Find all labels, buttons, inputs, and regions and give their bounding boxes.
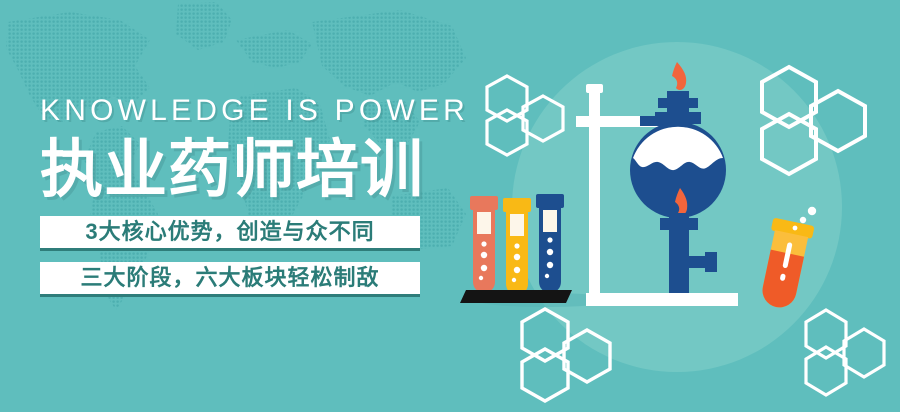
banner-root: KNOWLEDGE IS POWER 执业药师培训 3大核心优势，创造与众不同 … xyxy=(0,0,900,412)
page-title: 执业药师培训 xyxy=(40,138,440,202)
test-tube-yellow xyxy=(503,198,531,295)
subtitle-text-2: 三大阶段，六大板块轻松制敌 xyxy=(80,267,379,289)
subtitle-box-2: 三大阶段，六大板块轻松制敌 xyxy=(40,262,420,297)
subtitle-text-1: 3大核心优势，创造与众不同 xyxy=(85,221,374,243)
flask-flame-icon xyxy=(672,62,686,90)
tilted-test-tube-warning xyxy=(755,218,814,312)
subtitle-box-1: 3大核心优势，创造与众不同 xyxy=(40,216,420,251)
test-tube-rack xyxy=(460,290,572,303)
headline-text-block: KNOWLEDGE IS POWER 执业药师培训 3大核心优势，创造与众不同 … xyxy=(40,96,440,297)
eyebrow-text: KNOWLEDGE IS POWER xyxy=(40,96,440,126)
test-tube-navy xyxy=(536,194,564,293)
test-tube-coral xyxy=(470,196,498,293)
bunsen-burner xyxy=(660,213,717,293)
